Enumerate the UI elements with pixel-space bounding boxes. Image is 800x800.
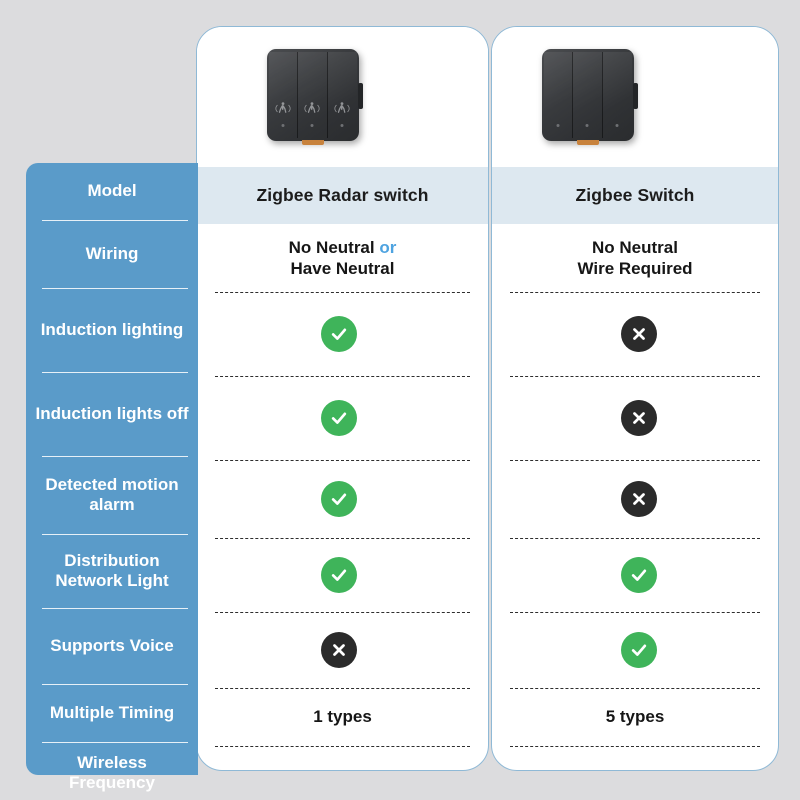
value-multiple-timing-right: 5 types (492, 688, 778, 746)
wiring-line1-right: No Neutral (592, 238, 678, 257)
switch-side-edge (358, 83, 363, 109)
value-distribution-network-light-right (492, 538, 778, 612)
row-label-induction-lights-off: Induction lights off (26, 372, 198, 456)
column-header-right: Zigbee Switch (492, 167, 778, 224)
value-detected-motion-alarm-right (492, 460, 778, 538)
value-detected-motion-alarm-left (197, 460, 488, 538)
row-label-multiple-timing: Multiple Timing (26, 684, 198, 742)
value-induction-lighting-right (492, 292, 778, 376)
switch-gang-3 (603, 52, 632, 138)
value-induction-lights-off-right (492, 376, 778, 460)
cross-icon (321, 632, 357, 668)
switch-bottom-tab (577, 140, 599, 145)
switch-gang-1 (544, 52, 573, 138)
gang-led-indicator (557, 124, 560, 127)
wiring-line2-right: Wire Required (577, 259, 692, 278)
product-card-zigbee-radar-switch: Z zigBee Powered by tuya Intelligent Ins… (196, 26, 489, 771)
feature-label-sidebar: Model Wiring Induction lighting Inductio… (26, 163, 198, 775)
cross-icon (621, 400, 657, 436)
check-icon (321, 481, 357, 517)
value-wireless-frequency-left: Zigbee 3.0 (197, 746, 488, 771)
product-photo-zigbee-switch: Z zigBee Powered by tuya Intelligent Ins… (492, 27, 778, 167)
value-supports-voice-left (197, 612, 488, 688)
value-wireless-frequency-right: Zigbee 3.0 (492, 746, 778, 771)
check-icon (621, 632, 657, 668)
gang-led-indicator (341, 124, 344, 127)
value-supports-voice-right (492, 612, 778, 688)
switch-side-edge (633, 83, 638, 109)
wiring-line2-left: Have Neutral (291, 259, 395, 278)
value-distribution-network-light-left (197, 538, 488, 612)
row-label-induction-lighting: Induction lighting (26, 288, 198, 372)
value-wiring-right: No Neutral Wire Required (492, 224, 778, 292)
row-label-supports-voice: Supports Voice (26, 608, 198, 684)
wiring-or-keyword: or (379, 238, 396, 257)
value-rows-left: No Neutral or Have Neutral (197, 224, 488, 771)
gang-led-indicator (311, 124, 314, 127)
motion-sensor-icon (335, 101, 350, 116)
gang-led-indicator (282, 124, 285, 127)
check-icon (321, 316, 357, 352)
motion-sensor-icon (305, 101, 320, 116)
switch-gang-1 (269, 52, 298, 138)
check-icon (621, 557, 657, 593)
wiring-line1-left: No Neutral (289, 238, 380, 257)
switch-gang-2 (298, 52, 327, 138)
value-wiring-left: No Neutral or Have Neutral (197, 224, 488, 292)
switch-gang-2 (573, 52, 602, 138)
row-label-wiring: Wiring (26, 220, 198, 288)
motion-sensor-icon (276, 101, 291, 116)
cross-icon (621, 481, 657, 517)
row-label-wireless-frequency: Wireless Frequency (26, 742, 198, 800)
check-icon (321, 400, 357, 436)
check-icon (321, 557, 357, 593)
row-label-model: Model (26, 163, 198, 220)
product-photo-zigbee-radar-switch: Z zigBee Powered by tuya Intelligent Ins… (197, 27, 488, 167)
comparison-infographic: Z zigBee Powered by tuya Intelligent Ins… (0, 0, 800, 800)
gang-led-indicator (616, 124, 619, 127)
switch-bottom-tab (302, 140, 324, 145)
product-card-zigbee-switch: Z zigBee Powered by tuya Intelligent Ins… (491, 26, 779, 771)
value-multiple-timing-left: 1 types (197, 688, 488, 746)
value-induction-lighting-left (197, 292, 488, 376)
switch-gang-3 (328, 52, 357, 138)
row-label-distribution-network-light: Distribution Network Light (26, 534, 198, 608)
gang-led-indicator (586, 124, 589, 127)
value-rows-right: No Neutral Wire Required (492, 224, 778, 771)
value-induction-lights-off-left (197, 376, 488, 460)
product-image-radar-switch (267, 49, 359, 141)
row-label-detected-motion-alarm: Detected motion alarm (26, 456, 198, 534)
cross-icon (621, 316, 657, 352)
product-image-plain-switch (542, 49, 634, 141)
column-header-left: Zigbee Radar switch (197, 167, 488, 224)
